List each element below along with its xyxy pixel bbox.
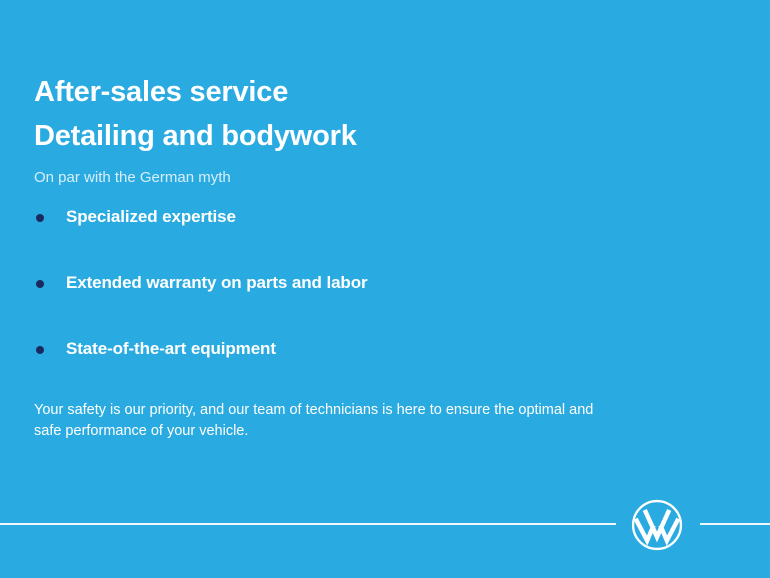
divider-line-left <box>0 523 616 525</box>
body-paragraph: Your safety is our priority, and our tea… <box>34 400 594 442</box>
feature-list: Specialized expertise Extended warranty … <box>34 203 694 401</box>
list-item: Specialized expertise <box>34 203 694 269</box>
slide-canvas: After-sales service Detailing and bodywo… <box>0 0 770 578</box>
divider-line-right <box>700 523 770 525</box>
headline-line-1: After-sales service <box>34 70 674 114</box>
list-item-label: State-of-the-art equipment <box>66 335 276 363</box>
bullet-dot-icon <box>36 280 44 288</box>
heading-block: After-sales service Detailing and bodywo… <box>34 70 674 188</box>
list-item: Extended warranty on parts and labor <box>34 269 694 335</box>
bullet-dot-icon <box>36 346 44 354</box>
subtitle: On par with the German myth <box>34 168 674 188</box>
list-item: State-of-the-art equipment <box>34 335 694 401</box>
bullet-dot-icon <box>36 214 44 222</box>
footer-bar <box>0 499 770 551</box>
volkswagen-logo-icon <box>631 499 683 551</box>
list-item-label: Extended warranty on parts and labor <box>66 269 368 297</box>
headline-line-2: Detailing and bodywork <box>34 114 674 158</box>
list-item-label: Specialized expertise <box>66 203 236 231</box>
